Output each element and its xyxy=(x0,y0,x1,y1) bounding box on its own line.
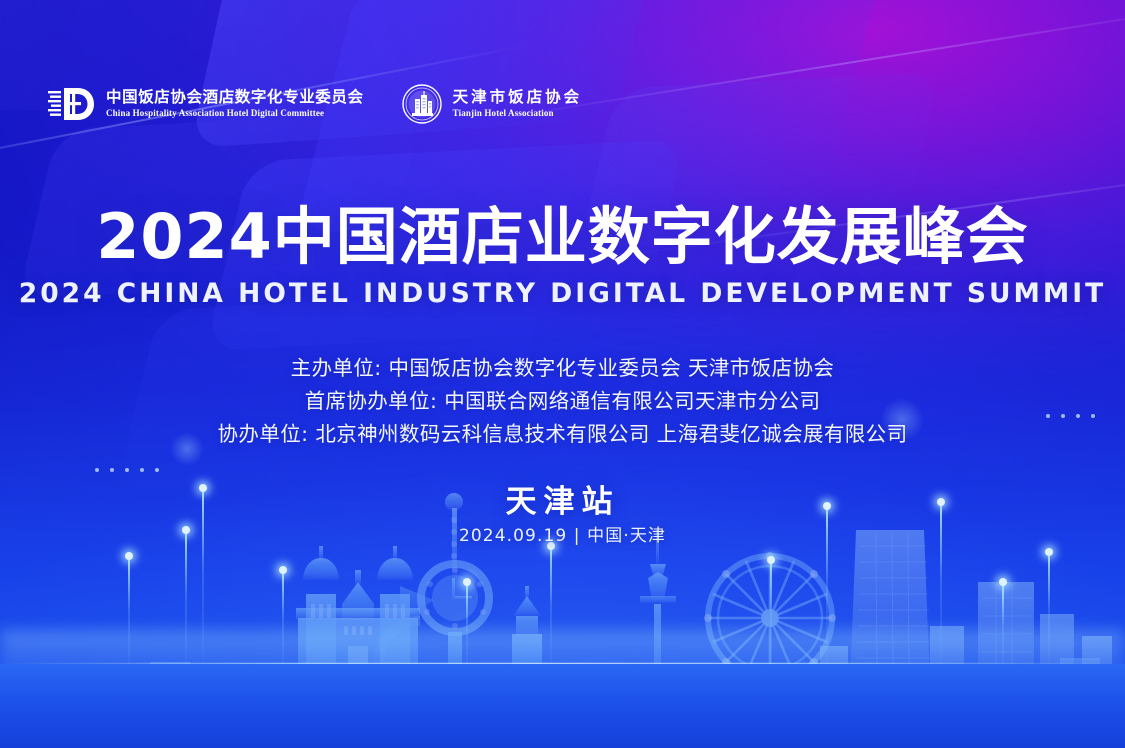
dot-row xyxy=(95,468,159,472)
poster-title-cn: 2024中国酒店业数字化发展峰会 xyxy=(0,206,1125,268)
logo-tianjin-hotel-association: 天津市饭店协会 Tianjin Hotel Association xyxy=(402,84,583,124)
poster-title-en: 2024 CHINA HOTEL INDUSTRY DIGITAL DEVELO… xyxy=(0,281,1125,308)
logo-name-cn: 中国饭店协会酒店数字化专业委员会 xyxy=(106,90,364,106)
foreground-floor xyxy=(0,664,1125,748)
logo-name-cn: 天津市饭店协会 xyxy=(453,90,583,106)
event-poster: 中国饭店协会酒店数字化专业委员会 China Hospitality Assoc… xyxy=(0,0,1125,748)
logo-name-en: Tianjin Hotel Association xyxy=(453,109,583,118)
logo-text-block: 中国饭店协会酒店数字化专业委员会 China Hospitality Assoc… xyxy=(106,90,364,119)
organizer-line: 协办单位: 北京神州数码云科信息技术有限公司 上海君斐亿诚会展有限公司 xyxy=(0,418,1125,451)
logo-name-en: China Hospitality Association Hotel Digi… xyxy=(106,109,364,118)
date-location: 2024.09.19 | 中国·天津 xyxy=(0,528,1125,545)
organizer-line: 主办单位: 中国饭店协会数字化专业委员会 天津市饭店协会 xyxy=(0,352,1125,385)
station-name: 天津站 xyxy=(0,487,1125,518)
tianjin-hotel-association-seal-icon xyxy=(402,84,442,124)
logo-text-block: 天津市饭店协会 Tianjin Hotel Association xyxy=(453,90,583,119)
logo-bar: 中国饭店协会酒店数字化专业委员会 China Hospitality Assoc… xyxy=(48,84,582,124)
hotel-digital-committee-d-mark-icon xyxy=(48,85,95,123)
organizer-line: 首席协办单位: 中国联合网络通信有限公司天津市分公司 xyxy=(0,385,1125,418)
logo-china-hospitality-association: 中国饭店协会酒店数字化专业委员会 China Hospitality Assoc… xyxy=(48,85,364,123)
organizer-list: 主办单位: 中国饭店协会数字化专业委员会 天津市饭店协会 首席协办单位: 中国联… xyxy=(0,352,1125,451)
